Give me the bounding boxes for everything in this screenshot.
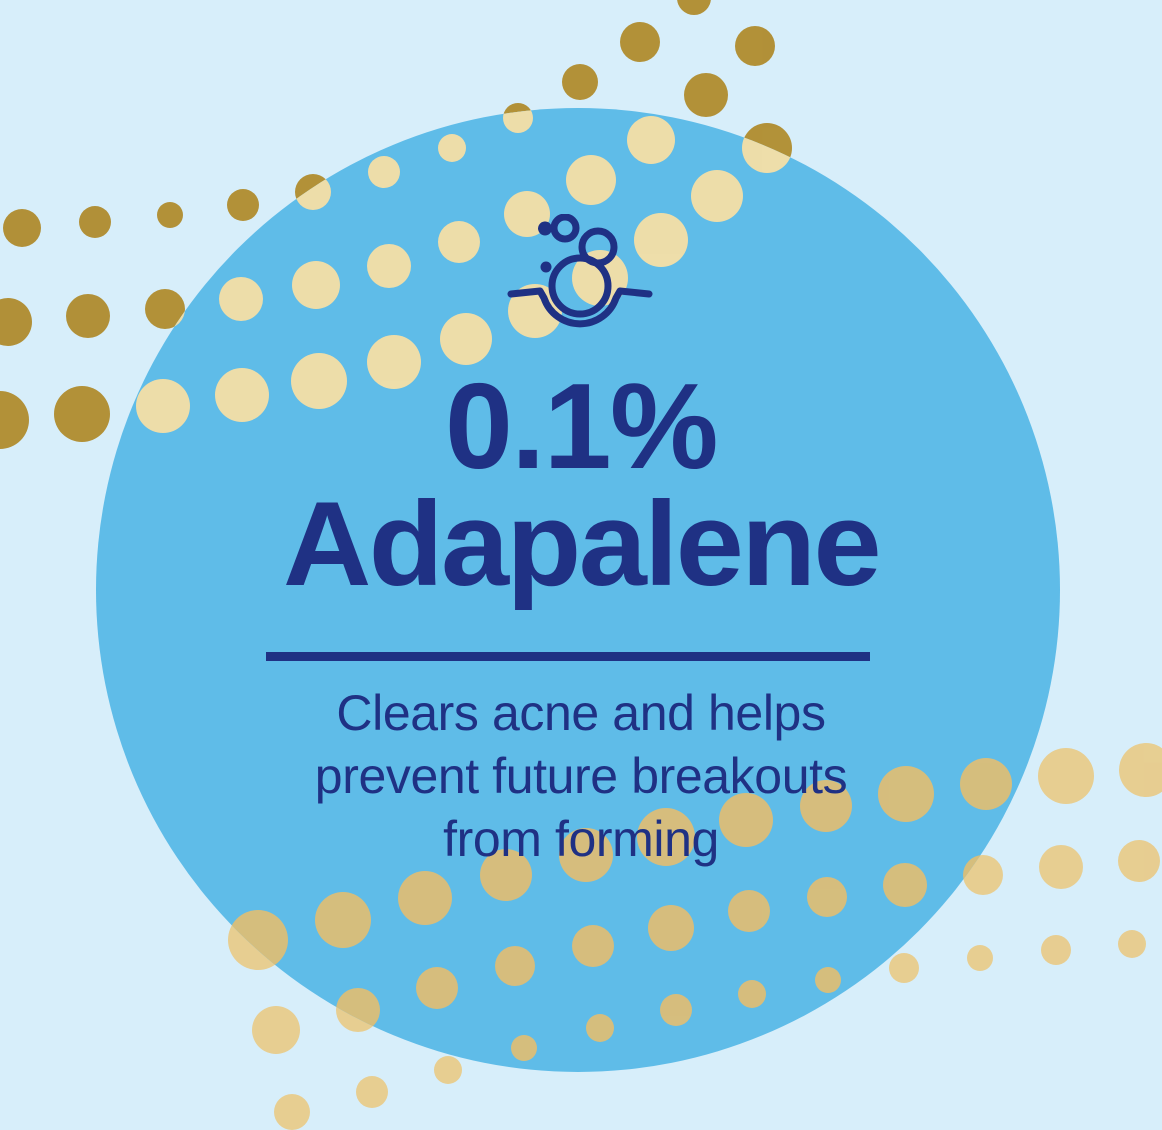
benefit-line-1: Clears acne and helps: [0, 682, 1162, 745]
bubbles-foam-icon: [505, 214, 655, 340]
headline-ingredient: Adapalene: [0, 484, 1162, 604]
navy-divider-rule: [266, 652, 870, 661]
poster-content: 0.1% Adapalene Clears acne and helps pre…: [0, 0, 1162, 1130]
benefit-line-2: prevent future breakouts: [0, 745, 1162, 808]
adapalene-product-callout-poster: 0.1% Adapalene Clears acne and helps pre…: [0, 0, 1162, 1130]
headline-percentage: 0.1%: [0, 365, 1162, 487]
benefit-line-3: from forming: [0, 808, 1162, 871]
tiny-bubble-dot: [541, 262, 552, 273]
benefit-description: Clears acne and helps prevent future bre…: [0, 682, 1162, 871]
